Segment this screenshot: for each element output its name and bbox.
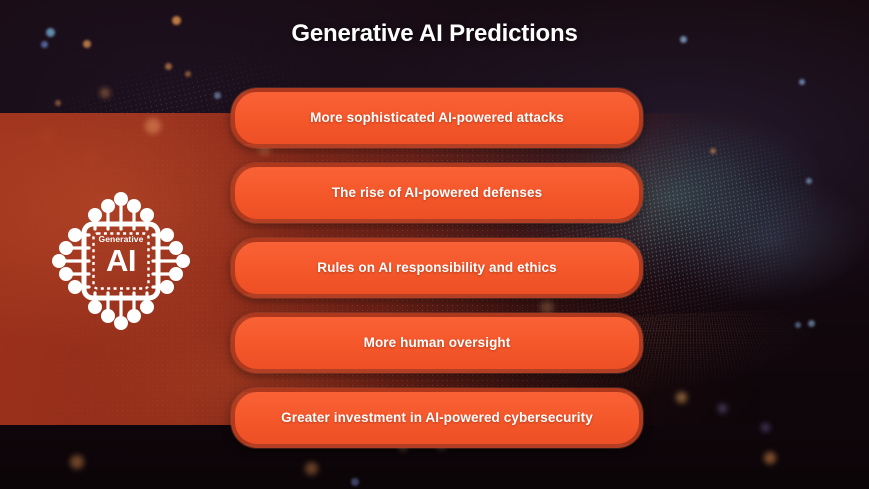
slide-canvas: Generative AI Predictions (0, 0, 869, 489)
bokeh-particle (764, 452, 776, 464)
prediction-pill-label: More human oversight (364, 336, 511, 350)
prediction-pill-label: Rules on AI responsibility and ethics (317, 261, 557, 275)
prediction-pill-1[interactable]: More sophisticated AI-powered attacks (231, 88, 643, 148)
prediction-pill-label: The rise of AI-powered defenses (332, 186, 542, 200)
generative-ai-chip-icon: Generative AI (48, 188, 194, 334)
page-title: Generative AI Predictions (0, 20, 869, 48)
bokeh-particle (305, 462, 318, 475)
bokeh-particle (70, 455, 84, 469)
bokeh-particle (540, 300, 554, 314)
prediction-pill-4[interactable]: More human oversight (231, 313, 643, 373)
bokeh-particle (808, 320, 815, 327)
prediction-pill-label: Greater investment in AI-powered cyberse… (281, 411, 593, 425)
prediction-pill-5[interactable]: Greater investment in AI-powered cyberse… (231, 388, 643, 448)
bokeh-particle (165, 63, 172, 70)
bokeh-particle (806, 178, 812, 184)
prediction-pill-label: More sophisticated AI-powered attacks (310, 111, 564, 125)
bokeh-particle (761, 423, 770, 432)
bokeh-particle (799, 79, 805, 85)
chip-big-label: AI (48, 244, 194, 278)
bokeh-particle (55, 100, 61, 106)
bokeh-particle (351, 478, 359, 486)
bokeh-particle (100, 88, 110, 98)
bokeh-particle (795, 322, 801, 328)
bokeh-particle (185, 71, 191, 77)
prediction-pill-3[interactable]: Rules on AI responsibility and ethics (231, 238, 643, 298)
bokeh-particle (214, 92, 221, 99)
bokeh-particle (145, 118, 161, 134)
prediction-pill-2[interactable]: The rise of AI-powered defenses (231, 163, 643, 223)
